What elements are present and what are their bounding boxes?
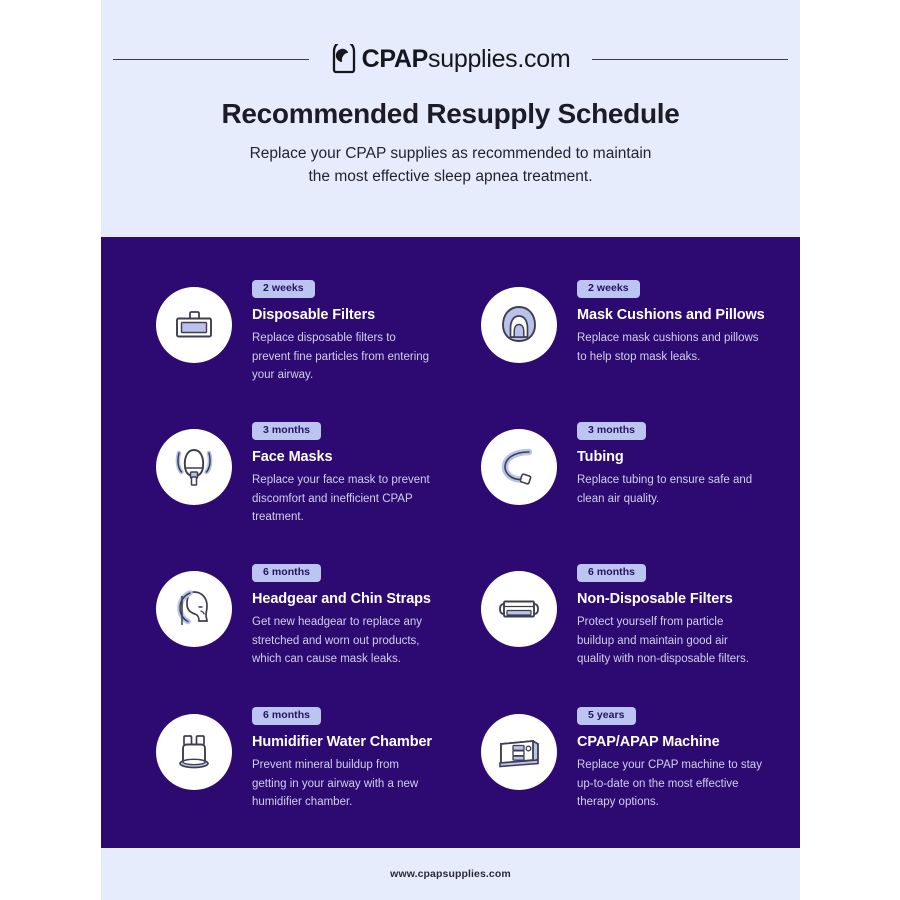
brand-name-regular: supplies.com	[428, 45, 570, 73]
card-body: 5 years CPAP/APAP Machine Replace your C…	[557, 705, 781, 812]
status-badge: 2 weeks	[252, 280, 315, 298]
schedule-item-disposable-filters: 2 weeks Disposable Filters Replace dispo…	[156, 278, 456, 385]
card-title: Non-Disposable Filters	[577, 591, 781, 608]
brand-logo: CPAPsupplies.com	[331, 44, 571, 74]
card-description: Protect yourself from particle buildup a…	[577, 613, 763, 669]
status-badge: 6 months	[577, 564, 646, 582]
card-description: Get new headgear to replace any stretche…	[252, 613, 434, 669]
card-title: Face Masks	[252, 449, 456, 466]
card-title: Humidifier Water Chamber	[252, 734, 456, 751]
brand-name-bold: CPAP	[362, 45, 428, 73]
card-description: Prevent mineral buildup from getting in …	[252, 756, 434, 812]
card-body: 3 months Tubing Replace tubing to ensure…	[557, 420, 781, 508]
card-title: Disposable Filters	[252, 307, 456, 324]
face-mask-icon	[156, 429, 232, 505]
card-description: Replace disposable filters to prevent fi…	[252, 329, 434, 385]
card-title: Mask Cushions and Pillows	[577, 307, 781, 324]
infographic-sheet: CPAPsupplies.com Recommended Resupply Sc…	[101, 0, 800, 900]
card-body: 6 months Headgear and Chin Straps Get ne…	[232, 562, 456, 669]
status-badge: 3 months	[252, 422, 321, 440]
humidifier-chamber-icon	[156, 714, 232, 790]
footer: www.cpapsupplies.com	[101, 848, 800, 900]
page-subtitle-line2: the most effective sleep apnea treatment…	[101, 165, 800, 188]
card-description: Replace tubing to ensure safe and clean …	[577, 471, 763, 508]
schedule-grid: 2 weeks Disposable Filters Replace dispo…	[101, 237, 800, 848]
header: CPAPsupplies.com Recommended Resupply Sc…	[101, 0, 800, 237]
card-description: Replace mask cushions and pillows to hel…	[577, 329, 763, 366]
infographic-page: CPAPsupplies.com Recommended Resupply Sc…	[0, 0, 900, 900]
card-title: Headgear and Chin Straps	[252, 591, 456, 608]
status-badge: 6 months	[252, 707, 321, 725]
disposable-filter-icon	[156, 287, 232, 363]
card-body: 3 months Face Masks Replace your face ma…	[232, 420, 456, 527]
brand-logo-row: CPAPsupplies.com	[101, 44, 800, 74]
non-disposable-filter-icon	[481, 571, 557, 647]
header-divider-right	[592, 59, 788, 60]
schedule-item-mask-cushions: 2 weeks Mask Cushions and Pillows Replac…	[481, 278, 781, 366]
tubing-icon	[481, 429, 557, 505]
card-body: 2 weeks Disposable Filters Replace dispo…	[232, 278, 456, 385]
schedule-item-face-masks: 3 months Face Masks Replace your face ma…	[156, 420, 456, 527]
schedule-item-cpap-machine: 5 years CPAP/APAP Machine Replace your C…	[481, 705, 781, 812]
card-body: 6 months Humidifier Water Chamber Preven…	[232, 705, 456, 812]
schedule-item-non-disposable-filters: 6 months Non-Disposable Filters Protect …	[481, 562, 781, 669]
schedule-item-tubing: 3 months Tubing Replace tubing to ensure…	[481, 420, 781, 508]
page-title: Recommended Resupply Schedule	[101, 98, 800, 130]
moon-crescent-icon	[331, 44, 357, 74]
status-badge: 6 months	[252, 564, 321, 582]
cpap-machine-icon	[481, 714, 557, 790]
headgear-icon	[156, 571, 232, 647]
card-body: 2 weeks Mask Cushions and Pillows Replac…	[557, 278, 781, 366]
status-badge: 2 weeks	[577, 280, 640, 298]
brand-name: CPAPsupplies.com	[362, 47, 571, 72]
mask-cushion-icon	[481, 287, 557, 363]
status-badge: 3 months	[577, 422, 646, 440]
page-subtitle-line1: Replace your CPAP supplies as recommende…	[250, 145, 652, 162]
card-description: Replace your face mask to prevent discom…	[252, 471, 434, 527]
schedule-item-headgear: 6 months Headgear and Chin Straps Get ne…	[156, 562, 456, 669]
schedule-band: 2 weeks Disposable Filters Replace dispo…	[101, 237, 800, 848]
header-divider-left	[113, 59, 309, 60]
card-description: Replace your CPAP machine to stay up-to-…	[577, 756, 763, 812]
schedule-item-humidifier-chamber: 6 months Humidifier Water Chamber Preven…	[156, 705, 456, 812]
card-title: CPAP/APAP Machine	[577, 734, 781, 751]
page-subtitle: Replace your CPAP supplies as recommende…	[101, 142, 800, 189]
card-body: 6 months Non-Disposable Filters Protect …	[557, 562, 781, 669]
card-title: Tubing	[577, 449, 781, 466]
status-badge: 5 years	[577, 707, 636, 725]
footer-url[interactable]: www.cpapsupplies.com	[390, 868, 511, 880]
